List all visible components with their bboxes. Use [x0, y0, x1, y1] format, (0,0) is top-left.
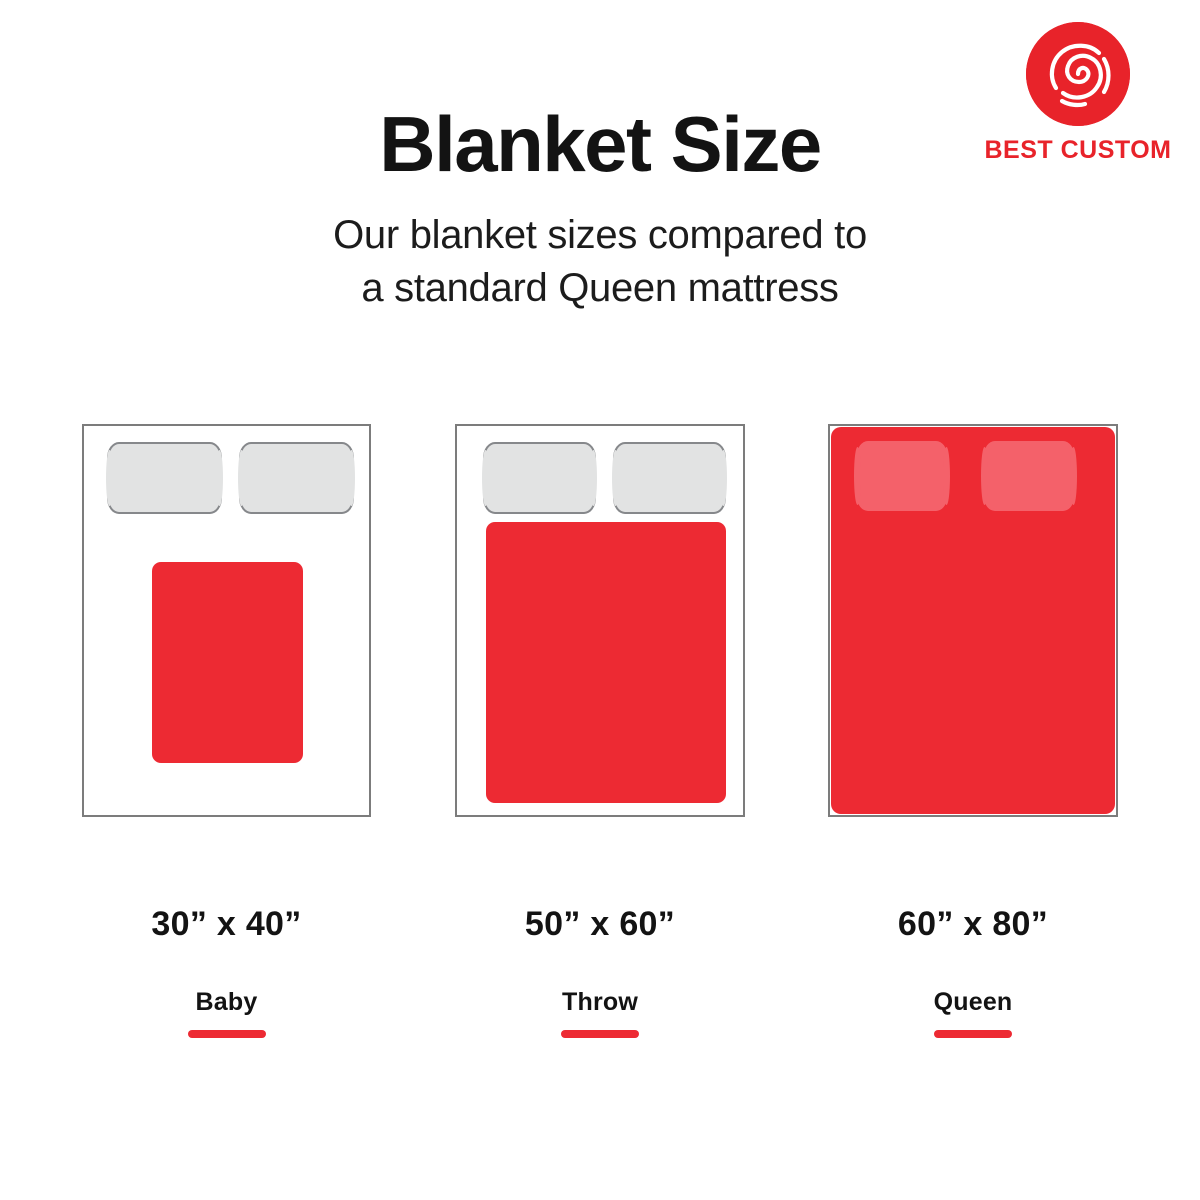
caption-baby: 30” x 40” Baby [82, 905, 371, 1038]
caption-throw: 50” x 60” Throw [455, 905, 745, 1038]
pillow-left [857, 441, 947, 511]
caption-underline-baby [188, 1030, 266, 1038]
pillow-left [483, 442, 596, 514]
blanket-throw [486, 522, 726, 803]
caption-queen: 60” x 80” Queen [828, 905, 1118, 1038]
page-subtitle: Our blanket sizes compared to a standard… [220, 209, 980, 315]
caption-underline-throw [561, 1030, 639, 1038]
blanket-queen [831, 427, 1115, 814]
name-label-baby: Baby [82, 988, 371, 1017]
name-label-throw: Throw [455, 988, 745, 1017]
page-title: Blanket Size [0, 105, 1200, 183]
page-subtitle-line-1: Our blanket sizes compared to [333, 213, 867, 257]
pillow-right [984, 441, 1074, 511]
size-label-throw: 50” x 60” [455, 905, 745, 944]
header-block: Blanket Size Our blanket sizes compared … [0, 105, 1200, 315]
caption-underline-queen [934, 1030, 1012, 1038]
page-subtitle-line-2: a standard Queen mattress [361, 266, 838, 310]
name-label-queen: Queen [828, 988, 1118, 1017]
bed-diagram-throw [455, 424, 745, 817]
pillow-left [107, 442, 222, 514]
bed-diagram-queen [828, 424, 1118, 817]
bed-diagram-baby [82, 424, 371, 817]
size-label-queen: 60” x 80” [828, 905, 1118, 944]
pillow-right [239, 442, 354, 514]
blanket-baby [152, 562, 303, 763]
pillow-right [613, 442, 726, 514]
size-label-baby: 30” x 40” [82, 905, 371, 944]
